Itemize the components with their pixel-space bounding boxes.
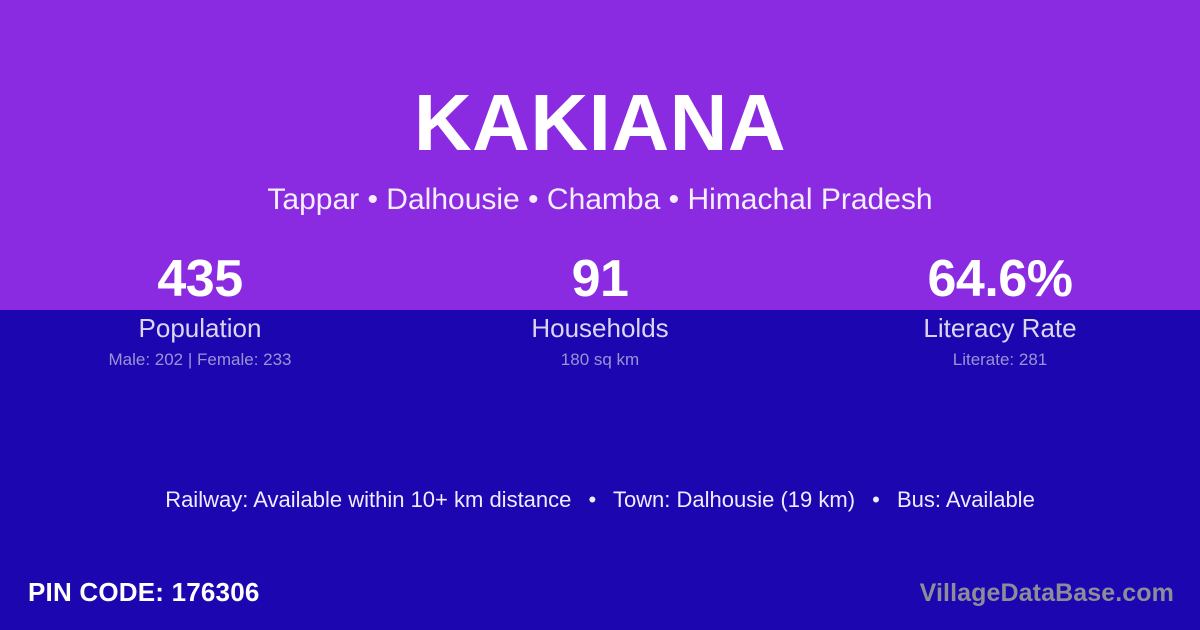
page-title: KAKIANA (0, 83, 1200, 163)
stat-literacy-detail: Literate: 281 (800, 349, 1200, 371)
stat-households-detail: 180 sq km (400, 349, 800, 371)
footer: PIN CODE: 176306 VillageDataBase.com (0, 575, 1200, 617)
brand-watermark: VillageDataBase.com (920, 577, 1174, 609)
stat-population-value: 435 (0, 248, 400, 310)
stat-households-label: Households (400, 312, 800, 344)
stat-literacy-value: 64.6% (800, 248, 1200, 310)
stat-literacy-label: Literacy Rate (800, 312, 1200, 344)
pin-code: PIN CODE: 176306 (28, 575, 260, 609)
connectivity-info: Railway: Available within 10+ km distanc… (0, 486, 1200, 514)
info-railway: Railway: Available within 10+ km distanc… (165, 487, 571, 512)
stat-population-detail: Male: 202 | Female: 233 (0, 349, 400, 371)
stat-population-label: Population (0, 312, 400, 344)
stat-households: 91 Households 180 sq km (400, 248, 800, 371)
stat-literacy: 64.6% Literacy Rate Literate: 281 (800, 248, 1200, 371)
breadcrumb: Tappar • Dalhousie • Chamba • Himachal P… (0, 182, 1200, 218)
village-info-card: KAKIANA Tappar • Dalhousie • Chamba • Hi… (0, 0, 1200, 630)
info-separator-2: • (861, 486, 891, 514)
stat-households-value: 91 (400, 248, 800, 310)
stats-row: 435 Population Male: 202 | Female: 233 9… (0, 248, 1200, 371)
info-town: Town: Dalhousie (19 km) (613, 487, 855, 512)
info-bus: Bus: Available (897, 487, 1035, 512)
info-separator-1: • (578, 486, 608, 514)
stat-population: 435 Population Male: 202 | Female: 233 (0, 248, 400, 371)
